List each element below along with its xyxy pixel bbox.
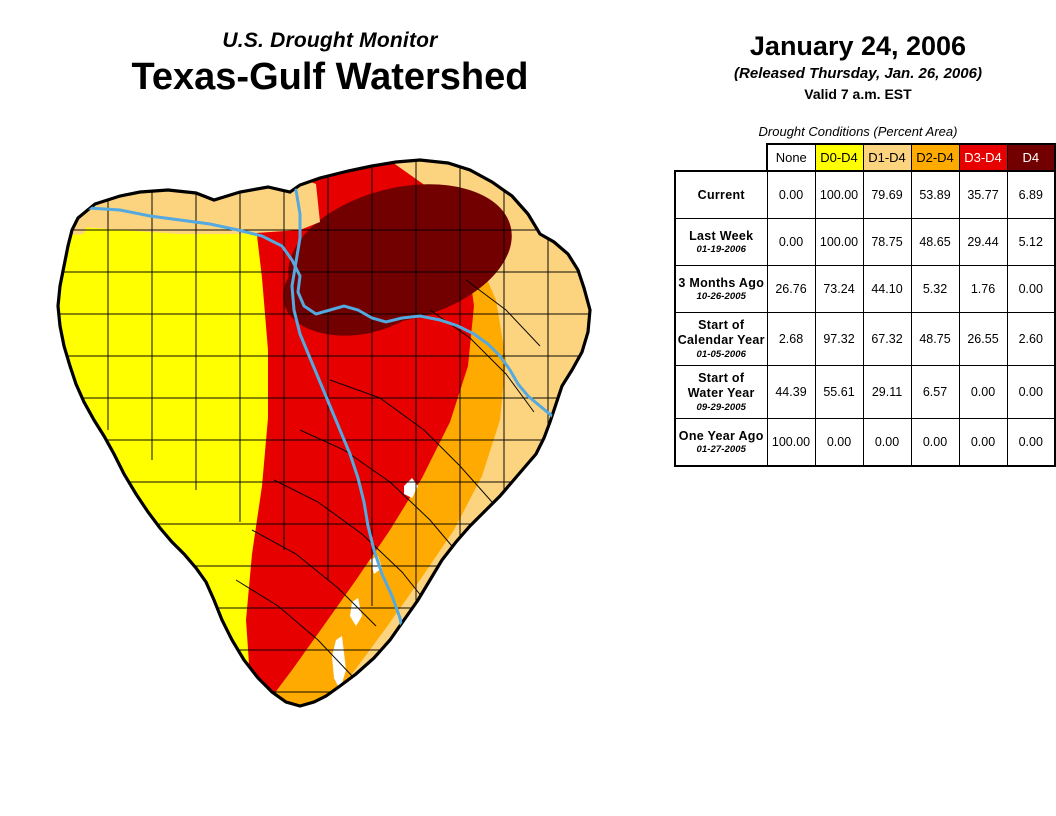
cell-3months-d4: 0.00	[1007, 266, 1055, 313]
cell-lastweek-d2d4: 48.65	[911, 219, 959, 266]
cell-wateryear-d3d4: 0.00	[959, 366, 1007, 419]
cell-lastweek-d1d4: 78.75	[863, 219, 911, 266]
table-header: None D0-D4 D1-D4 D2-D4 D3-D4 D4	[675, 144, 1055, 171]
table-row: 3 Months Ago 10-26-2005 26.76 73.24 44.1…	[675, 266, 1055, 313]
cell-3months-d0d4: 73.24	[815, 266, 863, 313]
row-sublabel: 09-29-2005	[676, 402, 767, 413]
cell-3months-none: 26.76	[767, 266, 815, 313]
row-label: Current	[698, 188, 745, 202]
table-row: One Year Ago 01-27-2005 100.00 0.00 0.00…	[675, 419, 1055, 467]
cell-oneyear-d0d4: 0.00	[815, 419, 863, 467]
row-label: Last Week	[689, 229, 753, 243]
cell-oneyear-none: 100.00	[767, 419, 815, 467]
row-sublabel: 01-19-2006	[676, 244, 767, 255]
table-body: Current 0.00 100.00 79.69 53.89 35.77 6.…	[675, 171, 1055, 466]
row-label-line2: Water Year	[688, 386, 755, 400]
col-header-d1d4: D1-D4	[863, 144, 911, 171]
cell-current-none: 0.00	[767, 171, 815, 219]
cell-oneyear-d1d4: 0.00	[863, 419, 911, 467]
cell-calyear-d2d4: 48.75	[911, 313, 959, 366]
col-header-d2d4: D2-D4	[911, 144, 959, 171]
row-label: One Year Ago	[679, 429, 764, 443]
row-header-start-water-year: Start of Water Year 09-29-2005	[675, 366, 767, 419]
cell-wateryear-none: 44.39	[767, 366, 815, 419]
cell-3months-d1d4: 44.10	[863, 266, 911, 313]
row-header-current: Current	[675, 171, 767, 219]
cell-oneyear-d4: 0.00	[1007, 419, 1055, 467]
col-header-d0d4: D0-D4	[815, 144, 863, 171]
cell-oneyear-d2d4: 0.00	[911, 419, 959, 467]
row-header-3-months-ago: 3 Months Ago 10-26-2005	[675, 266, 767, 313]
cell-calyear-none: 2.68	[767, 313, 815, 366]
col-header-none: None	[767, 144, 815, 171]
drought-conditions-table: None D0-D4 D1-D4 D2-D4 D3-D4 D4 Current …	[674, 143, 1056, 467]
map-container	[0, 130, 660, 800]
cell-current-d1d4: 79.69	[863, 171, 911, 219]
page-title: Texas-Gulf Watershed	[0, 56, 660, 100]
cell-calyear-d0d4: 97.32	[815, 313, 863, 366]
right-panel: January 24, 2006 (Released Thursday, Jan…	[660, 0, 1056, 816]
cell-lastweek-none: 0.00	[767, 219, 815, 266]
cell-current-d3d4: 35.77	[959, 171, 1007, 219]
table-row: Start of Calendar Year 01-05-2006 2.68 9…	[675, 313, 1055, 366]
cell-wateryear-d1d4: 29.11	[863, 366, 911, 419]
cell-3months-d3d4: 1.76	[959, 266, 1007, 313]
row-label-line1: Start of	[698, 318, 744, 332]
cell-3months-d2d4: 5.32	[911, 266, 959, 313]
cell-lastweek-d4: 5.12	[1007, 219, 1055, 266]
valid-time: Valid 7 a.m. EST	[660, 86, 1056, 102]
texas-gulf-watershed-drought-map	[0, 130, 660, 800]
cell-wateryear-d4: 0.00	[1007, 366, 1055, 419]
table-corner-cell	[675, 144, 767, 171]
cell-lastweek-d0d4: 100.00	[815, 219, 863, 266]
row-sublabel: 01-27-2005	[676, 444, 767, 455]
cell-current-d0d4: 100.00	[815, 171, 863, 219]
cell-wateryear-d0d4: 55.61	[815, 366, 863, 419]
cell-current-d2d4: 53.89	[911, 171, 959, 219]
table-row: Current 0.00 100.00 79.69 53.89 35.77 6.…	[675, 171, 1055, 219]
col-header-d4: D4	[1007, 144, 1055, 171]
row-header-start-calendar-year: Start of Calendar Year 01-05-2006	[675, 313, 767, 366]
cell-calyear-d3d4: 26.55	[959, 313, 1007, 366]
title-block: U.S. Drought Monitor Texas-Gulf Watershe…	[0, 30, 660, 100]
table-caption: Drought Conditions (Percent Area)	[660, 124, 1056, 139]
cell-current-d4: 6.89	[1007, 171, 1055, 219]
row-label-line2: Calendar Year	[678, 333, 765, 347]
page-supertitle: U.S. Drought Monitor	[0, 30, 660, 52]
row-sublabel: 01-05-2006	[676, 349, 767, 360]
cell-calyear-d4: 2.60	[1007, 313, 1055, 366]
cell-lastweek-d3d4: 29.44	[959, 219, 1007, 266]
release-date: January 24, 2006	[660, 32, 1056, 62]
cell-oneyear-d3d4: 0.00	[959, 419, 1007, 467]
row-label: 3 Months Ago	[678, 276, 764, 290]
row-header-one-year-ago: One Year Ago 01-27-2005	[675, 419, 767, 467]
table-row: Last Week 01-19-2006 0.00 100.00 78.75 4…	[675, 219, 1055, 266]
row-sublabel: 10-26-2005	[676, 291, 767, 302]
cell-calyear-d1d4: 67.32	[863, 313, 911, 366]
row-header-last-week: Last Week 01-19-2006	[675, 219, 767, 266]
table-row: Start of Water Year 09-29-2005 44.39 55.…	[675, 366, 1055, 419]
cell-wateryear-d2d4: 6.57	[911, 366, 959, 419]
date-block: January 24, 2006 (Released Thursday, Jan…	[660, 32, 1056, 102]
released-note: (Released Thursday, Jan. 26, 2006)	[660, 65, 1056, 82]
row-label-line1: Start of	[698, 371, 744, 385]
col-header-d3d4: D3-D4	[959, 144, 1007, 171]
